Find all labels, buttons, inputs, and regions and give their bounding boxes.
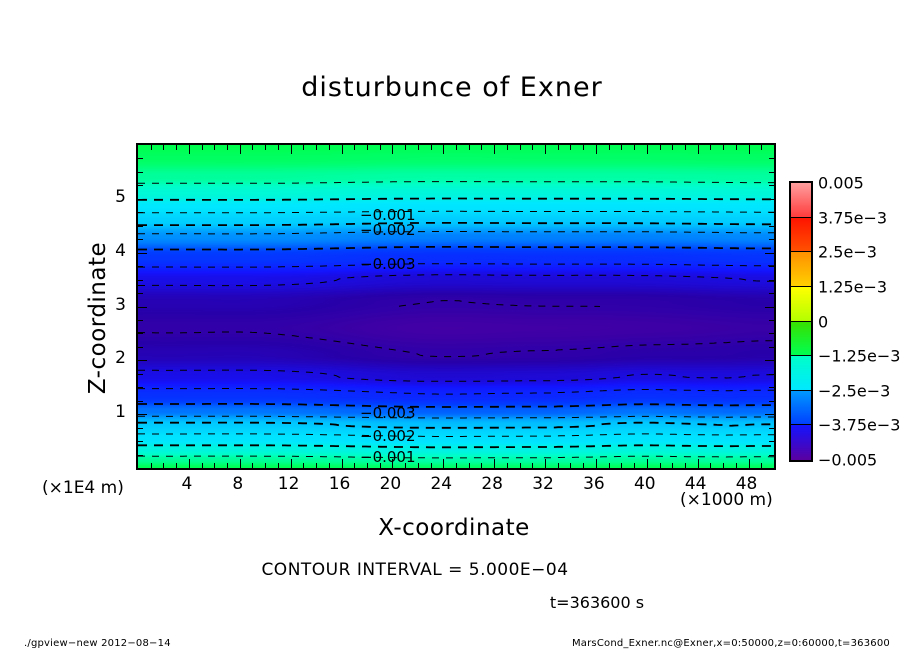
- z-tick-mark: [138, 428, 143, 429]
- contour-interval-note: CONTOUR INTERVAL = 5.000E−04: [0, 560, 830, 580]
- contour-line: [138, 423, 774, 428]
- x-axis-unit-label: (×1000 m): [680, 490, 773, 510]
- time-annotation: t=363600 s: [0, 593, 904, 612]
- contour-line: [138, 389, 774, 395]
- z-tick-mark: [138, 293, 143, 294]
- z-tick-mark: [138, 307, 147, 308]
- colorbar-band: [791, 391, 811, 426]
- contour-line: [138, 247, 774, 250]
- colorbar-tick-label: 0: [818, 312, 828, 331]
- x-tick-mark: [749, 145, 750, 154]
- colorbar-band: [791, 287, 811, 322]
- x-tick-mark: [431, 145, 432, 150]
- x-tick-mark: [596, 459, 597, 468]
- colorbar-tick-label: 0.005: [818, 174, 864, 193]
- contour-line: [138, 434, 774, 437]
- y-axis-title: Z-coordinate: [85, 198, 111, 438]
- x-axis-title: X-coordinate: [136, 515, 772, 541]
- x-tick-mark: [710, 463, 711, 468]
- x-tick-mark: [749, 459, 750, 468]
- x-tick-mark: [481, 145, 482, 150]
- x-tick-mark: [392, 145, 393, 154]
- x-tick-mark: [481, 463, 482, 468]
- x-tick-mark: [176, 145, 177, 150]
- x-tick-mark: [240, 459, 241, 468]
- z-tick-mark: [138, 212, 143, 213]
- z-tick-mark: [769, 333, 774, 334]
- x-tick-mark: [252, 145, 253, 150]
- x-tick-mark: [316, 145, 317, 150]
- z-tick-mark: [138, 226, 143, 227]
- x-tick-label: 36: [583, 474, 605, 494]
- x-tick-label: 4: [181, 474, 192, 494]
- footer-command: ./gpview−new 2012−08−14: [24, 638, 171, 649]
- x-tick-mark: [698, 459, 699, 468]
- x-tick-label: 32: [532, 474, 554, 494]
- x-tick-mark: [214, 463, 215, 468]
- x-tick-mark: [710, 145, 711, 150]
- x-tick-mark: [329, 463, 330, 468]
- x-tick-mark: [189, 459, 190, 468]
- colorbar-tick-label: −1.25e−3: [818, 347, 900, 366]
- colorbar-band: [791, 218, 811, 253]
- x-tick-mark: [647, 145, 648, 154]
- x-tick-mark: [736, 145, 737, 150]
- x-tick-mark: [265, 463, 266, 468]
- x-tick-mark: [532, 145, 533, 150]
- x-tick-mark: [570, 145, 571, 150]
- x-tick-mark: [456, 145, 457, 150]
- contour-line: [138, 182, 774, 184]
- z-tick-mark: [138, 199, 147, 200]
- x-tick-mark: [291, 459, 292, 468]
- x-tick-mark: [291, 145, 292, 154]
- z-tick-mark: [769, 212, 774, 213]
- x-tick-mark: [405, 463, 406, 468]
- z-tick-mark: [769, 158, 774, 159]
- x-tick-mark: [367, 145, 368, 150]
- contour-line: [138, 199, 774, 200]
- x-tick-mark: [761, 145, 762, 150]
- z-tick-mark: [138, 414, 147, 415]
- x-tick-mark: [736, 463, 737, 468]
- z-tick-mark: [765, 360, 774, 361]
- z-tick-mark: [765, 253, 774, 254]
- page-title: disturbunce of Exner: [0, 72, 904, 103]
- x-tick-label: 12: [278, 474, 300, 494]
- x-tick-mark: [151, 463, 152, 468]
- x-tick-mark: [443, 145, 444, 154]
- x-tick-mark: [367, 463, 368, 468]
- x-tick-mark: [634, 463, 635, 468]
- colorbar-band: [791, 356, 811, 391]
- z-tick-mark: [769, 185, 774, 186]
- x-tick-mark: [202, 463, 203, 468]
- z-tick-mark: [138, 320, 143, 321]
- z-tick-mark: [769, 280, 774, 281]
- x-tick-mark: [583, 463, 584, 468]
- x-tick-mark: [558, 145, 559, 150]
- x-tick-label: 28: [481, 474, 503, 494]
- contour-plot-area: −0.001−0.002−0.003−0.003−0.002−0.001: [136, 143, 776, 470]
- z-tick-mark: [138, 387, 143, 388]
- x-tick-mark: [303, 145, 304, 150]
- contour-value-label: −0.002: [360, 427, 416, 445]
- x-tick-mark: [570, 463, 571, 468]
- contour-lines-overlay: [138, 145, 774, 468]
- colorbar-band: [791, 425, 811, 460]
- z-tick-mark: [769, 441, 774, 442]
- x-tick-mark: [685, 463, 686, 468]
- x-tick-label: 20: [380, 474, 402, 494]
- x-tick-mark: [316, 463, 317, 468]
- contour-value-label: −0.001: [360, 448, 416, 466]
- z-tick-mark: [138, 172, 143, 173]
- colorbar-tick-label: −3.75e−3: [818, 416, 900, 435]
- z-tick-mark: [769, 347, 774, 348]
- colorbar-band: [791, 322, 811, 357]
- z-tick-mark: [138, 455, 143, 456]
- colorbar-tick-label: −2.5e−3: [818, 381, 890, 400]
- x-tick-mark: [621, 463, 622, 468]
- x-tick-mark: [761, 463, 762, 468]
- x-tick-mark: [354, 463, 355, 468]
- contour-line: [138, 445, 774, 447]
- z-tick-mark: [138, 360, 147, 361]
- contour-value-label: −0.002: [360, 221, 416, 239]
- x-tick-mark: [672, 145, 673, 150]
- x-tick-mark: [329, 145, 330, 150]
- contour-line: [138, 370, 774, 381]
- x-tick-mark: [609, 145, 610, 150]
- x-tick-mark: [469, 145, 470, 150]
- x-tick-mark: [583, 145, 584, 150]
- colorbar-band: [791, 252, 811, 287]
- x-tick-label: 24: [430, 474, 452, 494]
- colorbar-tick-label: 3.75e−3: [818, 208, 887, 227]
- x-tick-mark: [609, 463, 610, 468]
- z-tick-mark: [769, 266, 774, 267]
- x-tick-mark: [520, 463, 521, 468]
- x-tick-mark: [354, 145, 355, 150]
- x-tick-label: 16: [329, 474, 351, 494]
- x-tick-mark: [163, 145, 164, 150]
- colorbar-tick-label: 1.25e−3: [818, 277, 887, 296]
- x-tick-mark: [494, 145, 495, 154]
- x-tick-mark: [507, 145, 508, 150]
- z-tick-mark: [138, 158, 143, 159]
- x-tick-mark: [278, 463, 279, 468]
- contour-line: [138, 332, 774, 357]
- z-tick-mark: [769, 293, 774, 294]
- x-tick-mark: [214, 145, 215, 150]
- x-tick-mark: [303, 463, 304, 468]
- x-tick-mark: [443, 459, 444, 468]
- contour-value-label: −0.003: [360, 255, 416, 273]
- x-tick-mark: [494, 459, 495, 468]
- x-tick-mark: [265, 145, 266, 150]
- z-tick-mark: [765, 414, 774, 415]
- z-tick-mark: [765, 199, 774, 200]
- x-tick-mark: [163, 463, 164, 468]
- x-tick-label: 8: [232, 474, 243, 494]
- z-tick-mark: [138, 401, 143, 402]
- contour-line: [138, 456, 774, 458]
- x-tick-mark: [240, 145, 241, 154]
- x-tick-mark: [418, 145, 419, 150]
- x-tick-mark: [380, 463, 381, 468]
- x-tick-mark: [456, 463, 457, 468]
- z-tick-mark: [769, 226, 774, 227]
- z-tick-mark: [769, 428, 774, 429]
- contour-line: [138, 264, 774, 267]
- x-tick-mark: [380, 145, 381, 150]
- contour-value-label: −0.003: [360, 404, 416, 422]
- colorbar-band: [791, 183, 811, 218]
- z-tick-mark: [765, 307, 774, 308]
- x-tick-mark: [469, 463, 470, 468]
- x-tick-mark: [252, 463, 253, 468]
- x-tick-mark: [558, 463, 559, 468]
- x-tick-mark: [660, 145, 661, 150]
- z-tick-mark: [138, 253, 147, 254]
- z-tick-mark: [769, 387, 774, 388]
- z-tick-mark: [769, 374, 774, 375]
- x-tick-mark: [176, 463, 177, 468]
- x-tick-mark: [660, 463, 661, 468]
- contour-line: [399, 301, 600, 307]
- colorbar-tick-label: −0.005: [818, 451, 877, 470]
- z-tick-mark: [138, 441, 143, 442]
- x-tick-mark: [227, 463, 228, 468]
- x-tick-mark: [545, 459, 546, 468]
- contour-line: [138, 232, 774, 234]
- contour-line: [138, 223, 774, 225]
- y-axis-unit-label: (×1E4 m): [42, 478, 124, 498]
- x-tick-mark: [342, 459, 343, 468]
- z-tick-mark: [138, 333, 143, 334]
- x-tick-mark: [672, 463, 673, 468]
- x-tick-mark: [278, 145, 279, 150]
- x-tick-mark: [621, 145, 622, 150]
- z-tick-mark: [138, 266, 143, 267]
- x-tick-mark: [520, 145, 521, 150]
- colorbar-tick-label: 2.5e−3: [818, 243, 877, 262]
- x-tick-mark: [405, 145, 406, 150]
- z-tick-mark: [769, 320, 774, 321]
- z-tick-mark: [138, 374, 143, 375]
- z-tick-mark: [769, 455, 774, 456]
- contour-line: [138, 404, 774, 407]
- x-tick-mark: [647, 459, 648, 468]
- x-tick-mark: [545, 145, 546, 154]
- x-tick-mark: [685, 145, 686, 150]
- z-tick-mark: [769, 172, 774, 173]
- z-tick-mark: [138, 280, 143, 281]
- z-tick-mark: [138, 185, 143, 186]
- x-tick-mark: [507, 463, 508, 468]
- z-tick-mark: [769, 239, 774, 240]
- z-tick-mark: [769, 401, 774, 402]
- x-tick-mark: [418, 463, 419, 468]
- x-tick-mark: [227, 145, 228, 150]
- x-tick-mark: [723, 145, 724, 150]
- contour-line: [138, 275, 774, 286]
- x-tick-mark: [596, 145, 597, 154]
- x-tick-mark: [532, 463, 533, 468]
- x-tick-mark: [431, 463, 432, 468]
- x-tick-mark: [151, 145, 152, 150]
- x-tick-mark: [342, 145, 343, 154]
- x-tick-label: 40: [634, 474, 656, 494]
- x-tick-mark: [634, 145, 635, 150]
- x-tick-mark: [392, 459, 393, 468]
- footer-source: MarsCond_Exner.nc@Exner,x=0:50000,z=0:60…: [572, 638, 890, 649]
- x-tick-mark: [723, 463, 724, 468]
- contour-line: [138, 211, 774, 212]
- x-tick-mark: [698, 145, 699, 154]
- x-tick-mark: [189, 145, 190, 154]
- z-tick-mark: [138, 347, 143, 348]
- colorbar: [789, 181, 813, 462]
- x-tick-mark: [202, 145, 203, 150]
- contour-line: [138, 416, 774, 418]
- z-tick-mark: [138, 239, 143, 240]
